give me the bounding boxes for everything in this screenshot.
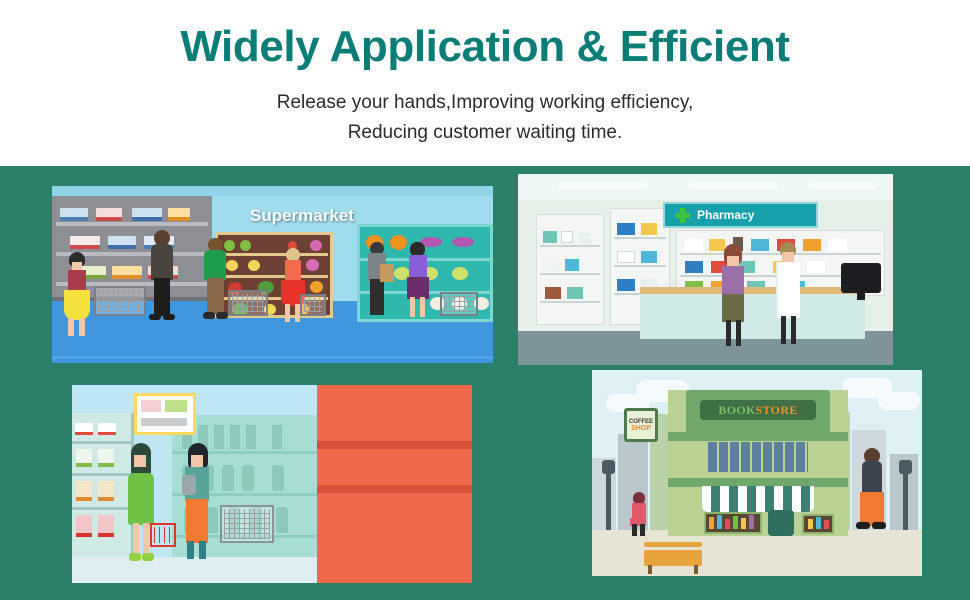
pharmacy-ceiling bbox=[518, 174, 893, 200]
subtitle-block: Release your hands,Improving working eff… bbox=[0, 88, 970, 148]
street-lamp bbox=[903, 470, 908, 530]
pharmacy-sign-label: Pharmacy bbox=[697, 208, 754, 222]
panel-pharmacy: Pharmacy bbox=[518, 174, 893, 365]
street-lamp bbox=[606, 470, 611, 530]
header-section: Widely Application & Efficient Release y… bbox=[0, 0, 970, 166]
pharmacy-monitor bbox=[841, 263, 881, 293]
bookstore-awning bbox=[702, 486, 814, 512]
supermarket-cart-1 bbox=[94, 286, 146, 316]
coffee-sign-line2: SHOP bbox=[631, 425, 651, 432]
retail-cart bbox=[220, 505, 274, 543]
supermarket-ceiling bbox=[52, 186, 493, 196]
bookstore-building: BOOKSTORE bbox=[668, 390, 848, 536]
pharmacy-sign: Pharmacy bbox=[663, 202, 818, 228]
retail-right-scene: Retail Store bbox=[317, 385, 472, 583]
bookstore-sign-part2: STORE bbox=[756, 403, 798, 418]
bookstore-upper-windows bbox=[708, 442, 808, 472]
supermarket-shopper-1 bbox=[64, 252, 90, 338]
page-title: Widely Application & Efficient bbox=[0, 22, 970, 72]
supermarket-cart-3 bbox=[440, 292, 478, 316]
pharmacy-shelf-left bbox=[536, 214, 604, 325]
retail-shopper-2 bbox=[180, 443, 214, 569]
pharmacy-customer bbox=[718, 244, 748, 350]
subtitle-line-2: Reducing customer waiting time. bbox=[0, 118, 970, 148]
bookstore-door[interactable] bbox=[768, 510, 794, 536]
bookstore-sign-part1: BOOK bbox=[718, 403, 755, 418]
street-bench bbox=[644, 550, 702, 566]
panel-bookstore: BOOKSTORE COFFEE bbox=[592, 370, 922, 576]
retail-shopper-1 bbox=[124, 443, 156, 567]
supermarket-shopper-3 bbox=[200, 238, 230, 338]
promo-banner: Widely Application & Efficient Release y… bbox=[0, 0, 970, 600]
retail-poster bbox=[134, 393, 196, 435]
green-cross-icon bbox=[675, 208, 690, 223]
subtitle-line-1: Release your hands,Improving working eff… bbox=[0, 88, 970, 118]
pharmacy-counter bbox=[640, 287, 865, 339]
bookstore-display-window bbox=[704, 512, 762, 534]
panel-retail-store: Retail Store bbox=[72, 385, 472, 583]
coffee-shop-sign: COFFEE SHOP bbox=[624, 408, 658, 442]
supermarket-shopper-6 bbox=[404, 242, 432, 340]
supermarket-cart-2 bbox=[228, 290, 268, 316]
panel-supermarket: Supermarket bbox=[52, 186, 493, 363]
pharmacy-pharmacist bbox=[773, 242, 803, 350]
retail-basket-1 bbox=[150, 523, 176, 547]
supermarket-basket-1 bbox=[300, 294, 326, 316]
supermarket-label: Supermarket bbox=[250, 206, 354, 226]
bookstore-sign: BOOKSTORE bbox=[700, 400, 816, 420]
bookstore-side-window bbox=[802, 514, 834, 534]
retail-left-scene bbox=[72, 385, 317, 583]
bookstore-seated-person bbox=[628, 492, 650, 534]
supermarket-shopper-5 bbox=[364, 242, 390, 338]
bookstore-walking-person bbox=[854, 448, 888, 538]
supermarket-shopper-2 bbox=[147, 230, 177, 338]
bookstore-facade-top: BOOKSTORE bbox=[686, 390, 830, 432]
cloud-icon bbox=[878, 392, 920, 410]
